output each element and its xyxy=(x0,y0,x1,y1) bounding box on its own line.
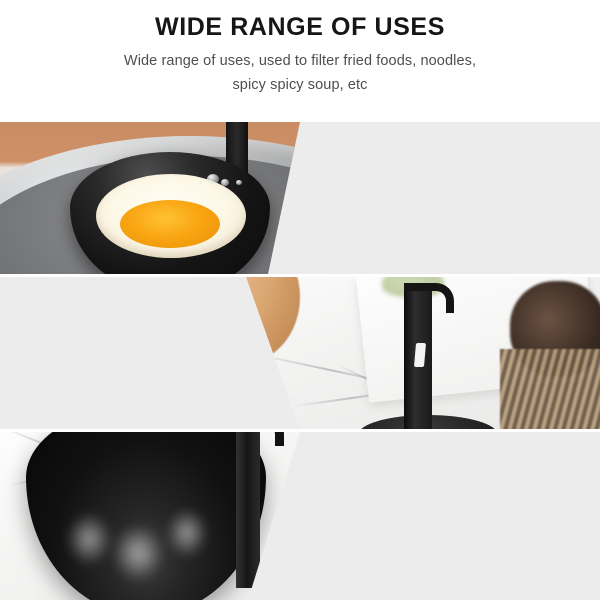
header-subtitle-line-2: spicy spicy soup, etc xyxy=(0,74,600,97)
feature-panel-3: 3 WEAR RESISTANT AND CORROSION RESISTANT xyxy=(0,432,600,600)
bowl-highlight xyxy=(166,508,208,558)
bowl-highlight xyxy=(112,524,164,582)
water-bubble xyxy=(221,179,229,186)
header: WIDE RANGE OF USES Wide range of uses, u… xyxy=(0,0,600,122)
marble-scene xyxy=(0,432,340,600)
feature-panel-1: 1 STAINLESS STEEL FOOD GRADE MATERIAL xyxy=(0,122,600,274)
header-subtitle: Wide range of uses, used to filter fried… xyxy=(0,50,600,97)
feature-photo-2 xyxy=(240,277,600,429)
wicker-mat xyxy=(500,349,600,429)
hook-curl-icon xyxy=(404,283,454,313)
feature-panel-2: 2 WITH A HOOK DESIGN xyxy=(0,277,600,429)
product-infographic: WIDE RANGE OF USES Wide range of uses, u… xyxy=(0,0,600,600)
feature-photo-3 xyxy=(0,432,340,600)
water-bubble xyxy=(236,180,242,185)
hook-handle-icon xyxy=(236,432,260,588)
brown-egg xyxy=(240,277,300,363)
hook-curl-icon xyxy=(240,432,284,446)
page-title: WIDE RANGE OF USES xyxy=(0,12,600,43)
marble-scene xyxy=(240,277,600,429)
water-bubble xyxy=(207,174,219,184)
steel-pot-scene xyxy=(0,122,340,274)
bowl-highlight xyxy=(66,512,112,566)
handle-slot xyxy=(414,343,426,367)
feature-photo-1 xyxy=(0,122,340,274)
header-subtitle-line-1: Wide range of uses, used to filter fried… xyxy=(0,50,600,73)
egg-yolk xyxy=(120,200,220,248)
